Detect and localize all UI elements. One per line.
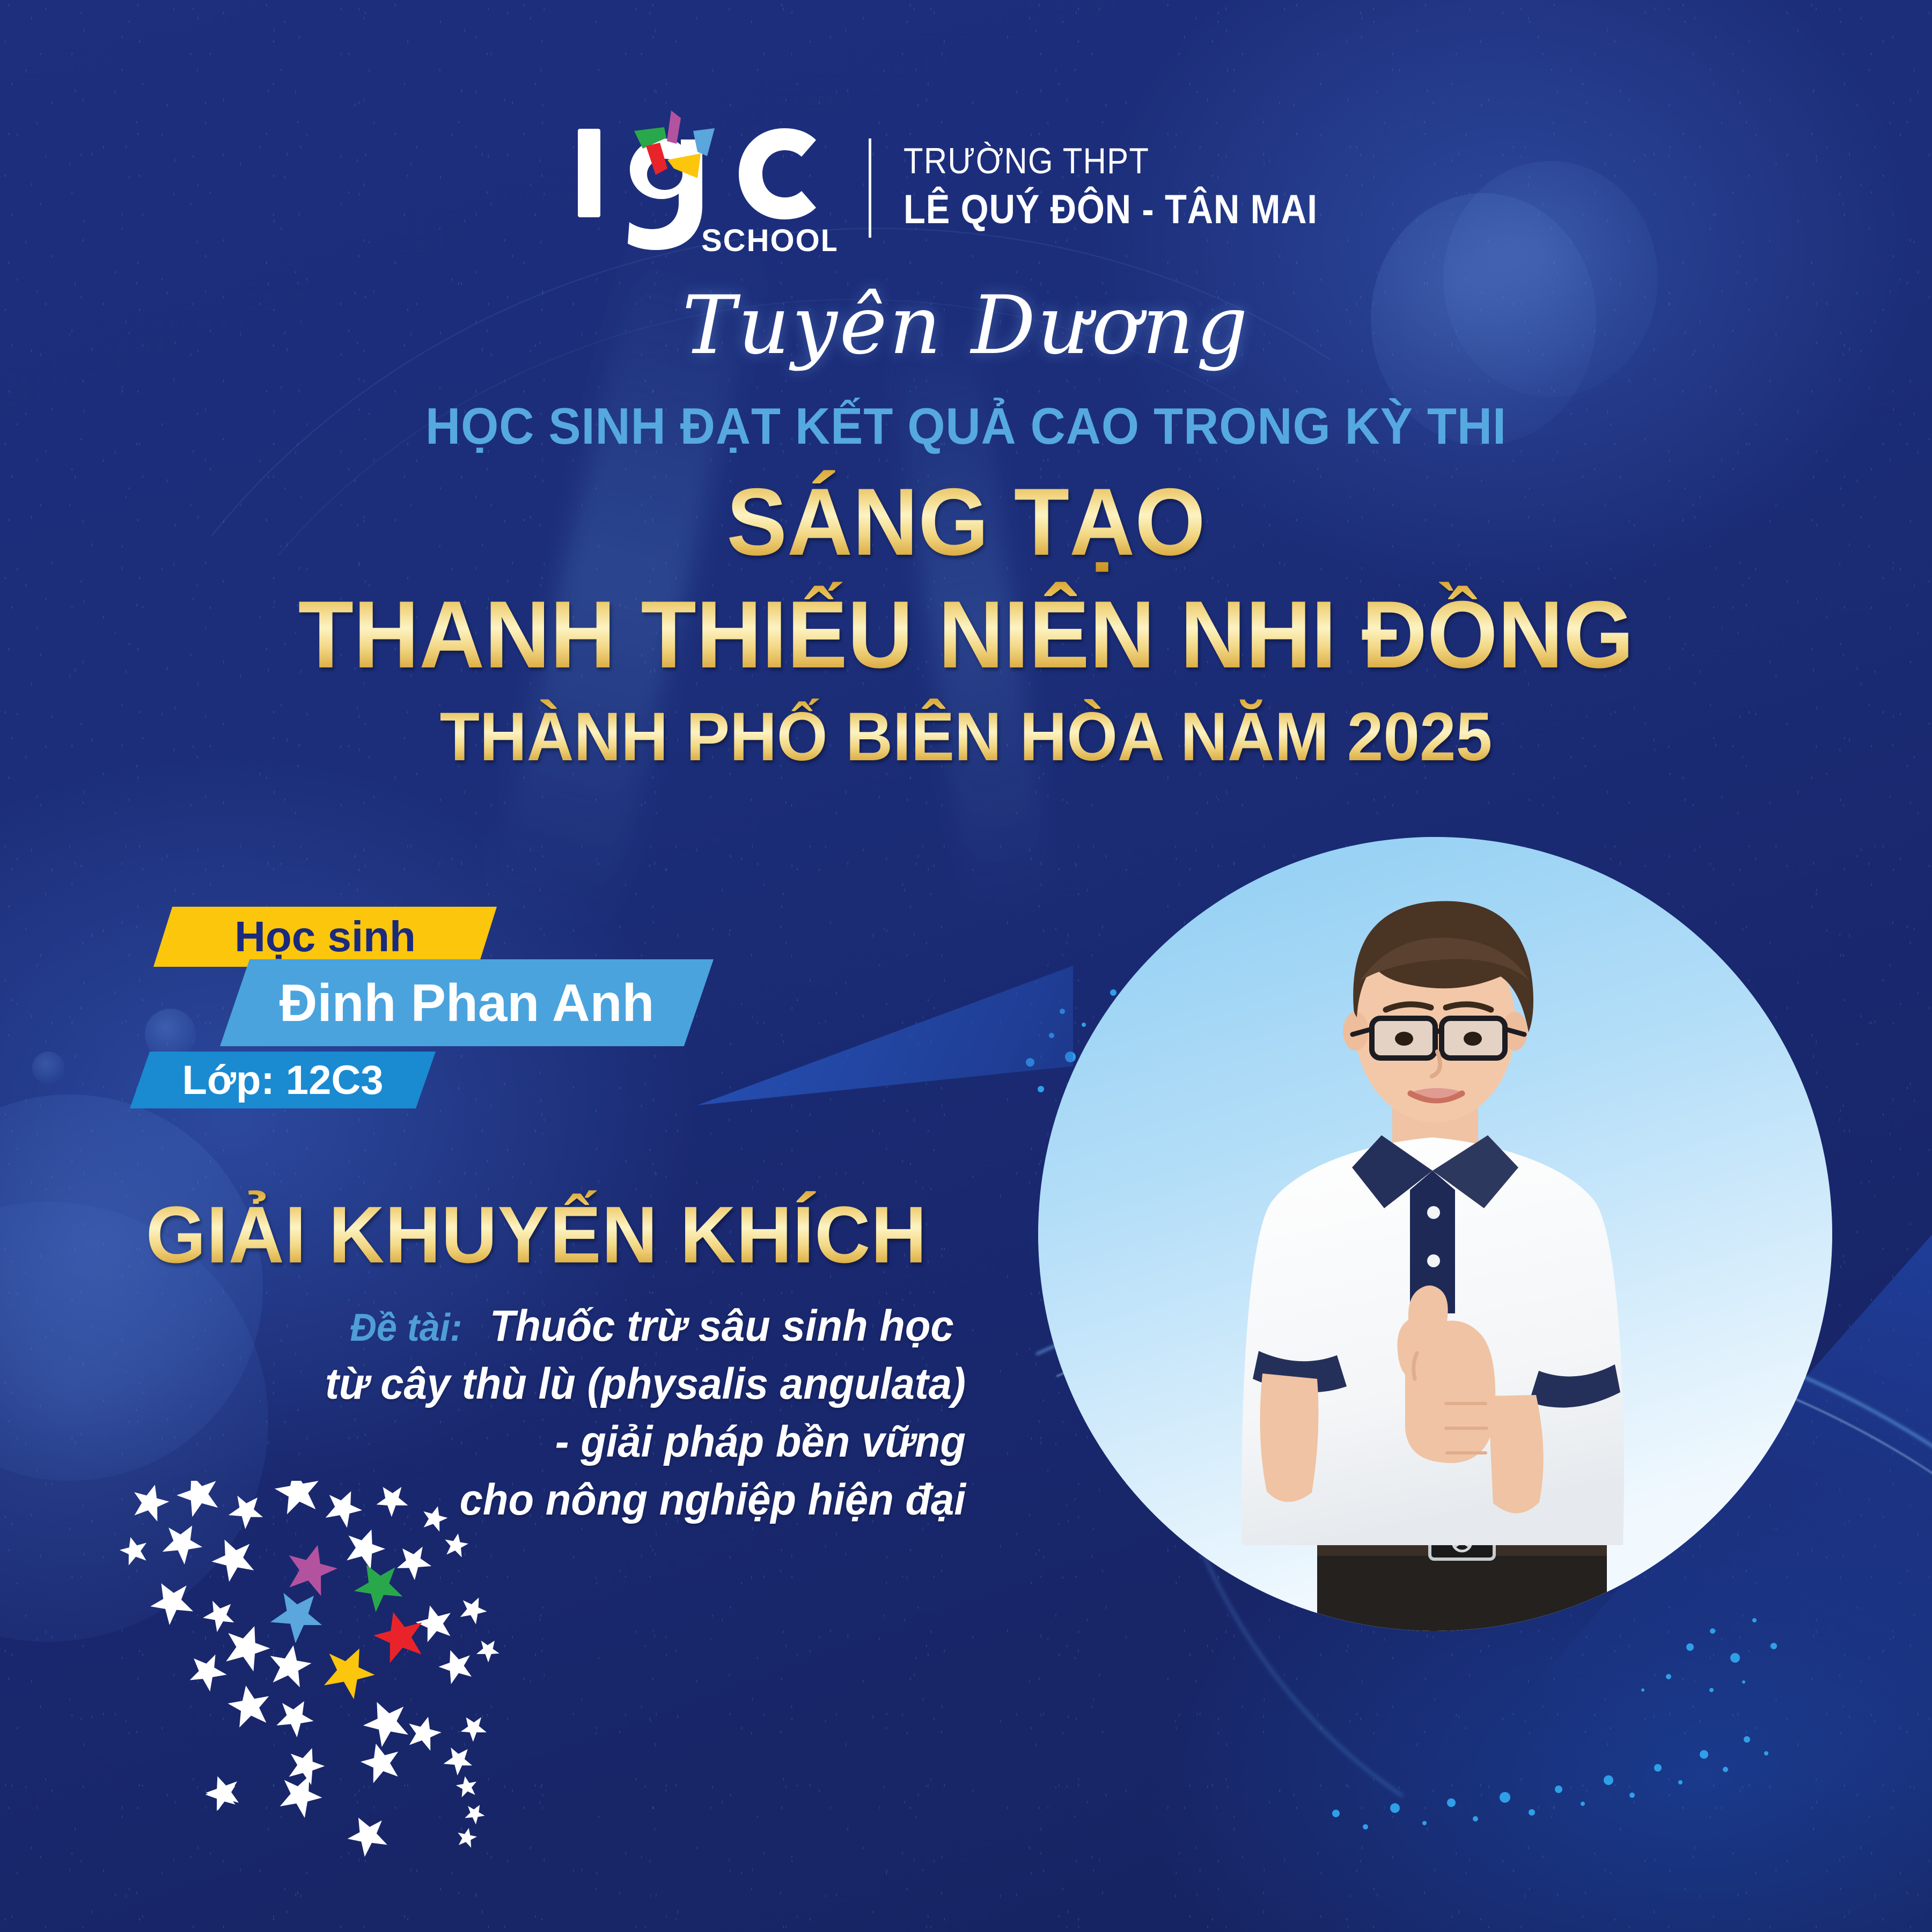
award-poster: SCHOOL TRƯỜNG THPT LÊ QUÝ ĐÔN - TÂN MAI … <box>0 0 1932 1932</box>
gold-title-line-2: THANH THIẾU NIÊN NHI ĐỒNG <box>48 579 1884 689</box>
svg-text:SCHOOL: SCHOOL <box>701 223 836 258</box>
subtitle: HỌC SINH ĐẠT KẾT QUẢ CAO TRONG KỲ THI <box>58 397 1874 456</box>
star-globe-decoration <box>113 1481 574 1931</box>
topic-label: Đề tài: <box>350 1306 462 1350</box>
school-line-1: TRƯỜNG THPT <box>903 140 1318 182</box>
student-class-badge: Lớp: 12C3 <box>130 1052 436 1108</box>
script-title: Tuyên Dương <box>0 279 1932 372</box>
student-role-badge: Học sinh <box>153 907 497 967</box>
igc-logo: SCHOOL <box>557 107 836 268</box>
header-divider <box>869 138 871 238</box>
award-prize-title: GIẢI KHUYẾN KHÍCH <box>99 1188 974 1281</box>
gold-title-line-3: THÀNH PHỐ BIÊN HÒA NĂM 2025 <box>48 697 1884 776</box>
glow-bubble-small-b <box>32 1052 64 1084</box>
badge-pointer-wedge <box>697 966 1073 1105</box>
student-name-badge: Đinh Phan Anh <box>220 959 714 1046</box>
school-line-2: LÊ QUÝ ĐÔN - TÂN MAI <box>903 186 1318 233</box>
student-portrait-illustration <box>1038 837 1832 1631</box>
topic-line-3: - giải pháp bền vững <box>171 1417 966 1467</box>
topic-line-2: từ cây thù lù (physalis angulata) <box>171 1359 966 1409</box>
poster-header: SCHOOL TRƯỜNG THPT LÊ QUÝ ĐÔN - TÂN MAI <box>0 107 1932 268</box>
gold-title-line-1: SÁNG TẠO <box>48 467 1884 577</box>
student-portrait-circle <box>1038 837 1832 1631</box>
topic-first-row: Đề tài:Thuốc trừ sâu sinh học <box>129 1301 966 1351</box>
school-name-block: TRƯỜNG THPT LÊ QUÝ ĐÔN - TÂN MAI <box>903 140 1374 236</box>
topic-line-1: Thuốc trừ sâu sinh học <box>489 1301 953 1351</box>
igc-logo-icon: SCHOOL <box>557 107 836 268</box>
